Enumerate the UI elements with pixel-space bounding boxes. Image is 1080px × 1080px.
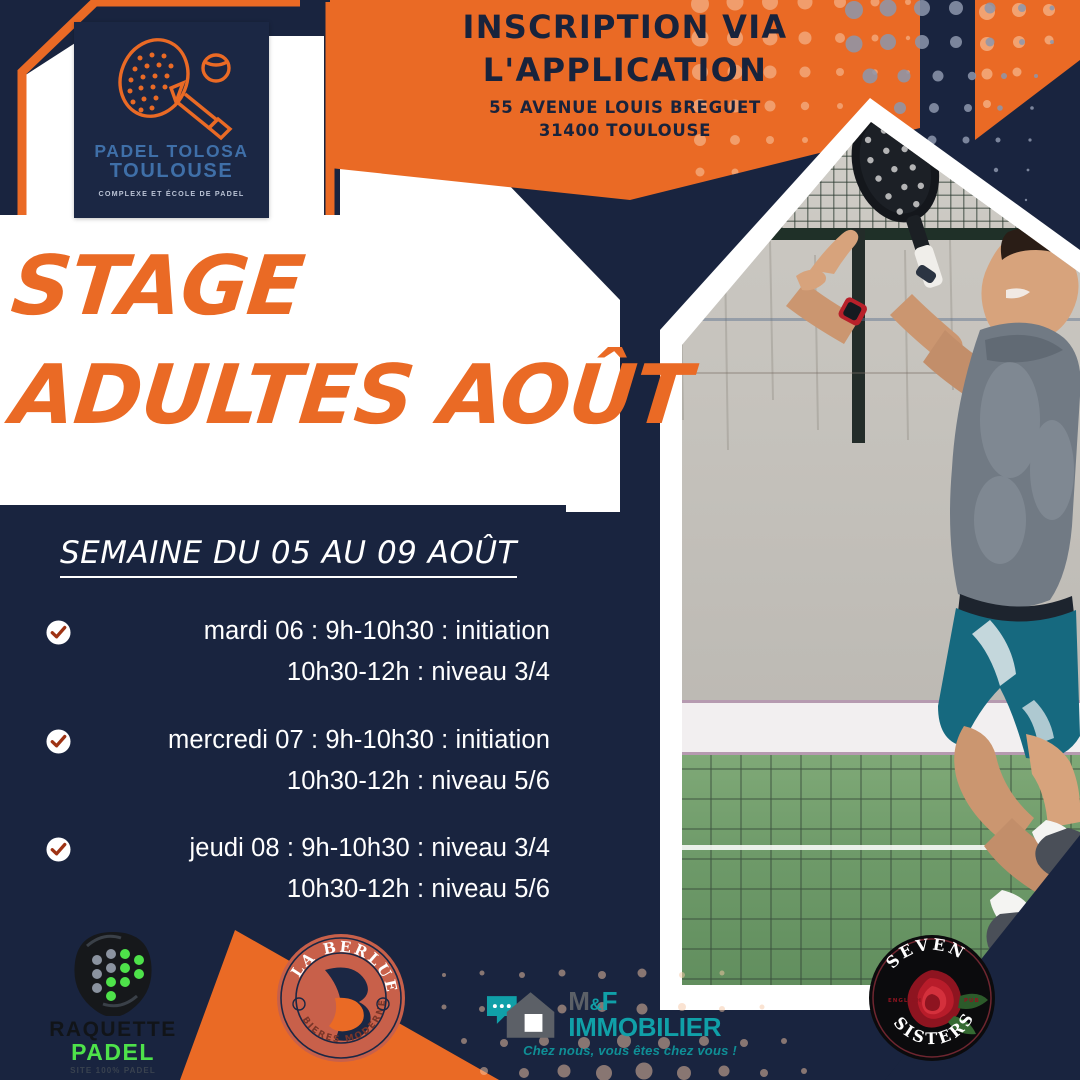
schedule-row-line-2: 10h30-12h : niveau 5/6 <box>71 761 550 802</box>
schedule-row-line-2: 10h30-12h : niveau 3/4 <box>71 652 550 693</box>
logo-line-1: PADEL TOLOSA <box>94 142 248 160</box>
house-chat-bubble-icon <box>485 988 562 1040</box>
berlue-badge-icon: LA BERLUE BIERES MODERNES <box>275 932 407 1064</box>
schedule-row-line-2: 10h30-12h : niveau 5/6 <box>71 869 550 910</box>
schedule-row-line-1: mercredi 07 : 9h-10h30 : initiation <box>71 720 550 761</box>
poster-title: STAGE ADULTES AOÛT <box>8 248 608 435</box>
check-circle-icon <box>46 837 71 862</box>
schedule-heading: SEMAINE DU 05 AU 09 AOÛT <box>60 535 517 578</box>
schedule-row-line-1: jeudi 08 : 9h-10h30 : niveau 3/4 <box>71 828 550 869</box>
logo-tagline: COMPLEXE ET ÉCOLE DE PADEL <box>99 189 245 198</box>
schedule-panel: SEMAINE DU 05 AU 09 AOÛT mardi 06 : 9h-1… <box>0 505 566 935</box>
logo-line-2: TOULOUSE <box>110 160 234 182</box>
sponsor-raquette-padel: RAQUETTE PADEL SITE 100% PADEL <box>38 930 188 1075</box>
sponsor-mf-slogan: Chez nous, vous êtes chez vous ! <box>485 1043 775 1058</box>
check-circle-icon <box>46 729 71 754</box>
schedule-row: mardi 06 : 9h-10h30 : initiation 10h30-1… <box>0 611 566 694</box>
sponsor-raquette-line-1: RAQUETTE <box>38 1019 188 1040</box>
title-line-2: ADULTES AOÛT <box>8 357 616 436</box>
rose-badge-icon: SEVEN SISTERS ENGLISH PUB <box>868 934 996 1062</box>
sponsor-la-berlue: LA BERLUE BIERES MODERNES <box>275 932 407 1064</box>
schedule-row-line-1: mardi 06 : 9h-10h30 : initiation <box>71 611 550 652</box>
padel-racket-and-ball-icon <box>97 36 247 141</box>
schedule-row: mercredi 07 : 9h-10h30 : initiation 10h3… <box>0 720 566 803</box>
header-line-1: INSCRIPTION VIA <box>330 6 920 49</box>
title-line-1: STAGE <box>8 248 616 327</box>
sponsor-seven-sisters: SEVEN SISTERS ENGLISH PUB <box>868 934 996 1062</box>
sponsor-raquette-line-3: SITE 100% PADEL <box>38 1066 188 1075</box>
sponsor-seven-right-text: PUB <box>964 998 980 1004</box>
schedule-row: jeudi 08 : 9h-10h30 : niveau 3/4 10h30-1… <box>0 828 566 911</box>
club-logo: PADEL TOLOSA TOULOUSE COMPLEXE ET ÉCOLE … <box>74 22 269 218</box>
sponsor-row: RAQUETTE PADEL SITE 100% PADEL LA BERLUE <box>0 920 1080 1080</box>
padel-racket-logo-icon <box>65 930 161 1016</box>
address-line-2: 31400 TOULOUSE <box>330 120 920 142</box>
sponsor-seven-left-text: ENGLISH <box>888 998 922 1004</box>
header-line-2: L'APPLICATION <box>330 49 920 92</box>
header-text-group: INSCRIPTION VIA L'APPLICATION 55 AVENUE … <box>330 0 920 142</box>
schedule-list: mardi 06 : 9h-10h30 : initiation 10h30-1… <box>0 611 566 911</box>
sponsor-mf-name: M&F IMMOBILIER <box>568 988 775 1040</box>
check-circle-icon <box>46 620 71 645</box>
sponsor-mf-immobilier: M&F IMMOBILIER Chez nous, vous êtes chez… <box>485 988 775 1058</box>
sponsor-raquette-line-2: PADEL <box>38 1040 188 1064</box>
address-line-1: 55 AVENUE LOUIS BREGUET <box>330 97 920 119</box>
poster-canvas: PADEL TOLOSA TOULOUSE COMPLEXE ET ÉCOLE … <box>0 0 1080 1080</box>
